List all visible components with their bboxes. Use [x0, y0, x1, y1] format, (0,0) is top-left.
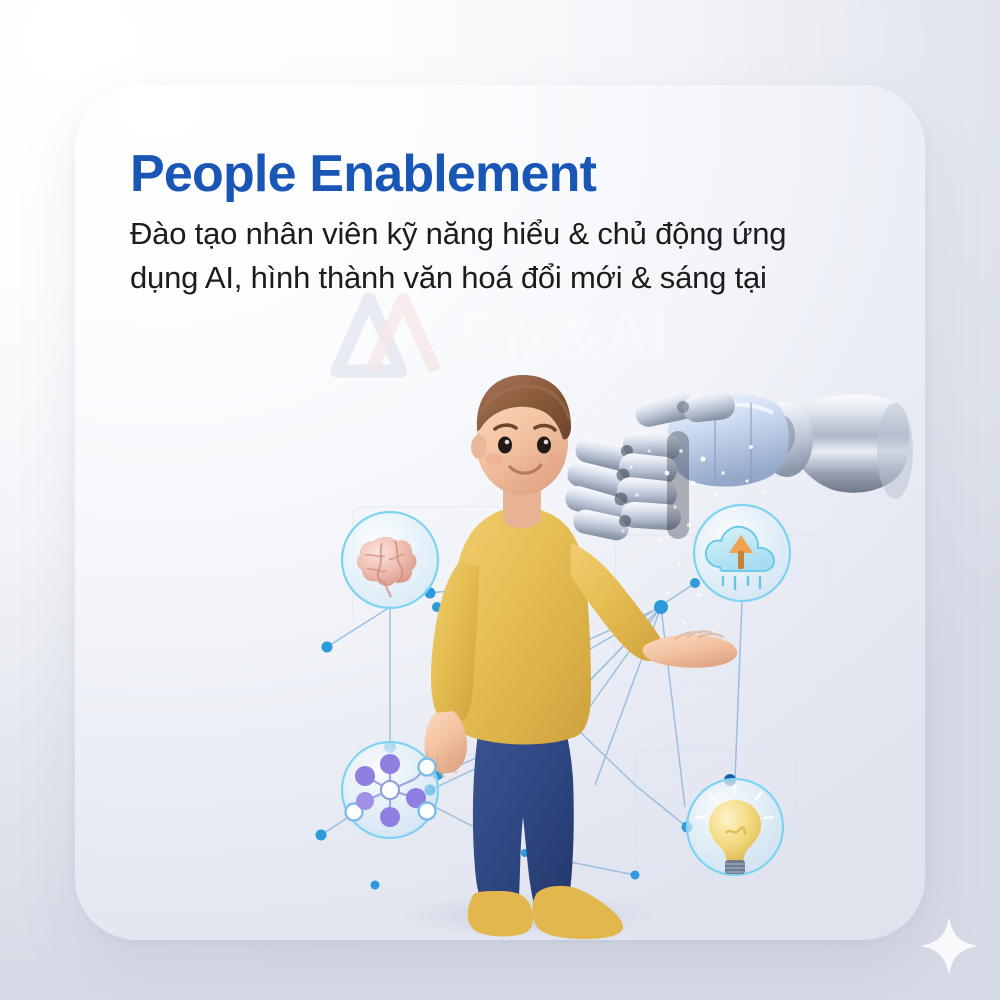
node-molecule[interactable]	[342, 742, 438, 838]
page-title: People Enablement	[130, 147, 890, 202]
four-point-star-sparkle	[918, 915, 980, 977]
node-cloud[interactable]	[694, 505, 790, 601]
text-block: People Enablement Đào tạo nhân viên kỹ n…	[130, 147, 890, 300]
subtitle-line-1: Đào tạo nhân viên kỹ năng hiểu & chủ độn…	[130, 212, 860, 256]
character-eye-left	[498, 437, 512, 454]
character-ear	[471, 435, 487, 459]
node-brain[interactable]	[342, 512, 438, 608]
node-lightbulb[interactable]	[687, 779, 783, 875]
character-shoe-left	[468, 891, 533, 936]
character-shoe-right	[533, 886, 624, 939]
character-eye-right	[537, 437, 551, 454]
illustration-stage	[75, 355, 925, 940]
page-subtitle: Đào tạo nhân viên kỹ năng hiểu & chủ độn…	[130, 212, 860, 300]
character-trousers	[473, 723, 574, 909]
subtitle-line-2: dụng AI, hình thành văn hoá đổi mới & sá…	[130, 256, 860, 300]
content-card: People Enablement Đào tạo nhân viên kỹ n…	[75, 85, 925, 940]
robot-fingers	[563, 431, 689, 543]
